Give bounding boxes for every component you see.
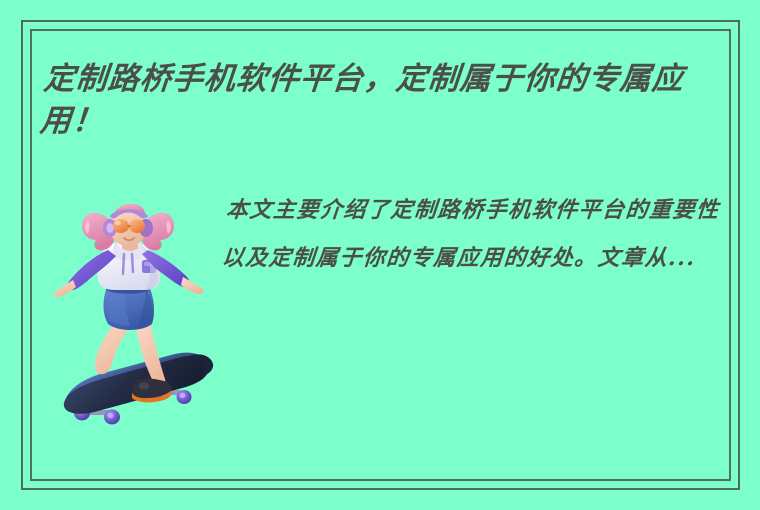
head	[82, 204, 174, 251]
poster-canvas: 定制路桥手机软件平台，定制属于你的专属应用！ 本文主要介绍了定制路桥手机软件平台…	[0, 0, 760, 510]
denim-skirt	[104, 284, 155, 330]
page-title: 定制路桥手机软件平台，定制属于你的专属应用！	[38, 58, 737, 142]
sneaker	[132, 378, 172, 402]
article-summary: 本文主要介绍了定制路桥手机软件平台的重要性以及定制属于你的专属应用的好处。文章从…	[220, 186, 722, 282]
girl-on-skateboard-illustration	[38, 198, 238, 443]
